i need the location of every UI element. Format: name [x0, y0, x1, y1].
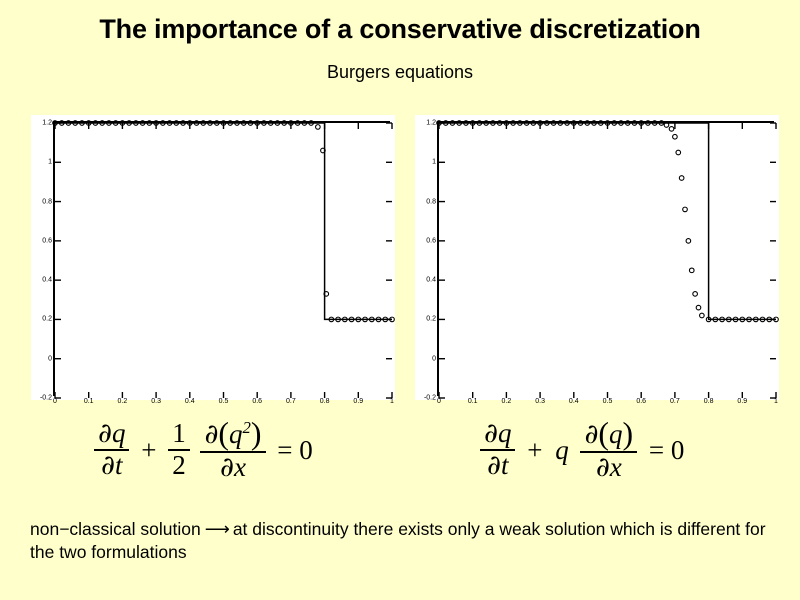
close-paren: )	[251, 416, 262, 451]
x-axis-tick-label: 0.7	[670, 398, 680, 405]
y-axis-tick-label: 0.4	[426, 277, 436, 284]
plot-area-right	[439, 123, 774, 396]
y-axis-tick-label: 0	[48, 355, 52, 362]
plus-operator: +	[524, 435, 545, 466]
x-symbol: x	[610, 452, 622, 482]
frac-numerator: 1	[168, 420, 190, 449]
data-point-marker	[689, 268, 694, 273]
open-paren: (	[598, 416, 609, 451]
x-axis-tick-label: 1	[390, 398, 394, 405]
page-subtitle: Burgers equations	[0, 62, 800, 83]
frac-denominator: ∂x	[580, 451, 637, 482]
y-axis-tick-label: 0.8	[42, 198, 52, 205]
series-markers-right	[437, 121, 779, 322]
y-axis-tick-label: -0.2	[40, 395, 52, 402]
x-axis-tick-label: 0.5	[603, 398, 613, 405]
x-axis-tick-label: 1	[774, 398, 778, 405]
data-point-marker	[676, 150, 681, 155]
equals-zero: = 0	[274, 435, 315, 466]
frac-dq-dt-right: ∂q ∂t	[480, 420, 515, 479]
data-point-marker	[696, 305, 701, 310]
page-title: The importance of a conservative discret…	[0, 14, 800, 45]
chart-svg-left	[55, 123, 392, 398]
y-axis-tick-label: 1.2	[426, 120, 436, 127]
x-axis-tick-label: 0.3	[151, 398, 161, 405]
equals-zero: = 0	[646, 435, 687, 466]
equation-conservative: ∂q ∂t + 1 2 ∂(q2) ∂x = 0	[92, 418, 316, 482]
frac-dq-dx: ∂(q) ∂x	[580, 418, 637, 482]
x-axis-tick-label: 0.6	[252, 398, 262, 405]
series-line-right	[439, 123, 776, 319]
equation-non-conservative: ∂q ∂t + q ∂(q) ∂x = 0	[478, 418, 687, 482]
plot-area-left	[55, 123, 390, 396]
y-axis-tick-label: -0.2	[424, 395, 436, 402]
data-point-marker	[693, 292, 698, 297]
frac-numerator: ∂(q2)	[200, 418, 265, 451]
x-axis-tick-label: 0	[53, 398, 57, 405]
coefficient-q: q	[552, 435, 572, 466]
x-axis-tick-label: 0.9	[353, 398, 363, 405]
frac-dq2-dx: ∂(q2) ∂x	[200, 418, 265, 482]
x-axis-tick-label: 0.2	[118, 398, 128, 405]
frac-denominator: ∂x	[200, 451, 265, 482]
q-symbol: q	[498, 418, 512, 448]
open-paren: (	[218, 416, 229, 451]
q-symbol: q	[609, 419, 623, 449]
data-point-marker	[683, 207, 688, 212]
frac-denominator: ∂t	[94, 449, 129, 480]
data-point-marker	[679, 176, 684, 181]
frac-denominator: ∂t	[480, 449, 515, 480]
x-axis-tick-label: 0.4	[569, 398, 579, 405]
partial-symbol: ∂	[101, 450, 115, 481]
x-axis-tick-label: 0.2	[502, 398, 512, 405]
x-axis-tick-label: 0.3	[535, 398, 545, 405]
arrow-icon: ⟶	[201, 518, 233, 541]
exact-solution-line	[439, 123, 776, 319]
plus-operator: +	[138, 435, 159, 466]
y-axis-tick-label: 1.2	[42, 120, 52, 127]
partial-symbol: ∂	[584, 419, 598, 450]
exponent-two: 2	[243, 418, 251, 437]
x-axis-tick-label: 0.8	[320, 398, 330, 405]
q-symbol: q	[229, 419, 243, 449]
slide-canvas: The importance of a conservative discret…	[0, 0, 800, 600]
y-axis-tick-label: 0.8	[426, 198, 436, 205]
partial-symbol: ∂	[487, 450, 501, 481]
t-symbol: t	[501, 450, 509, 480]
t-symbol: t	[115, 450, 123, 480]
caption-text: non−classical solution⟶at discontinuity …	[30, 518, 775, 564]
x-axis-tick-label: 0	[437, 398, 441, 405]
chart-svg-right	[439, 123, 776, 398]
x-axis-tick-label: 0.8	[704, 398, 714, 405]
y-axis-tick-label: 0.4	[42, 277, 52, 284]
x-axis-tick-label: 0.9	[737, 398, 747, 405]
x-axis-tick-label: 0.5	[219, 398, 229, 405]
x-axis-tick-label: 0.1	[468, 398, 478, 405]
data-point-marker	[669, 127, 674, 132]
caption-part-1: non−classical solution	[30, 519, 201, 539]
data-point-marker	[673, 134, 678, 139]
axes-right: -0.200.20.40.60.811.2 00.10.20.30.40.50.…	[437, 121, 774, 396]
frac-dq-dt-left: ∂q ∂t	[94, 420, 129, 479]
y-axis-tick-label: 1	[432, 159, 436, 166]
ticks-right	[439, 123, 776, 398]
partial-symbol: ∂	[484, 418, 498, 449]
y-axis-tick-label: 0.2	[426, 316, 436, 323]
data-point-marker	[316, 125, 321, 130]
axes-left: -0.200.20.40.60.811.2 00.10.20.30.40.50.…	[53, 121, 390, 396]
x-symbol: x	[234, 452, 246, 482]
y-axis-tick-label: 0	[432, 355, 436, 362]
plot-panel-right: -0.200.20.40.60.811.2 00.10.20.30.40.50.…	[415, 115, 779, 400]
x-axis-tick-label: 0.7	[286, 398, 296, 405]
x-axis-tick-label: 0.6	[636, 398, 646, 405]
x-axis-tick-label: 0.1	[84, 398, 94, 405]
frac-numerator: ∂q	[94, 420, 129, 449]
partial-symbol: ∂	[596, 452, 610, 483]
x-axis-tick-label: 0.4	[185, 398, 195, 405]
data-point-marker	[700, 313, 705, 318]
ticks-left	[55, 123, 392, 398]
frac-one-half: 1 2	[168, 420, 190, 479]
close-paren: )	[623, 416, 634, 451]
partial-symbol: ∂	[204, 419, 218, 450]
y-axis-tick-label: 0.6	[426, 237, 436, 244]
series-markers-left	[53, 121, 395, 322]
partial-symbol: ∂	[220, 452, 234, 483]
plot-panel-left: -0.200.20.40.60.811.2 00.10.20.30.40.50.…	[31, 115, 395, 400]
q-symbol: q	[112, 418, 126, 448]
caption-part-2: at discontinuity there exists only a wea…	[233, 519, 540, 539]
partial-symbol: ∂	[98, 418, 112, 449]
exact-solution-line	[55, 123, 392, 319]
y-axis-tick-label: 1	[48, 159, 52, 166]
data-point-marker	[686, 239, 691, 244]
y-axis-tick-label: 0.2	[42, 316, 52, 323]
frac-denominator: 2	[168, 449, 190, 480]
frac-numerator: ∂q	[480, 420, 515, 449]
frac-numerator: ∂(q)	[580, 418, 637, 451]
series-line-left	[55, 123, 392, 319]
y-axis-tick-label: 0.6	[42, 237, 52, 244]
